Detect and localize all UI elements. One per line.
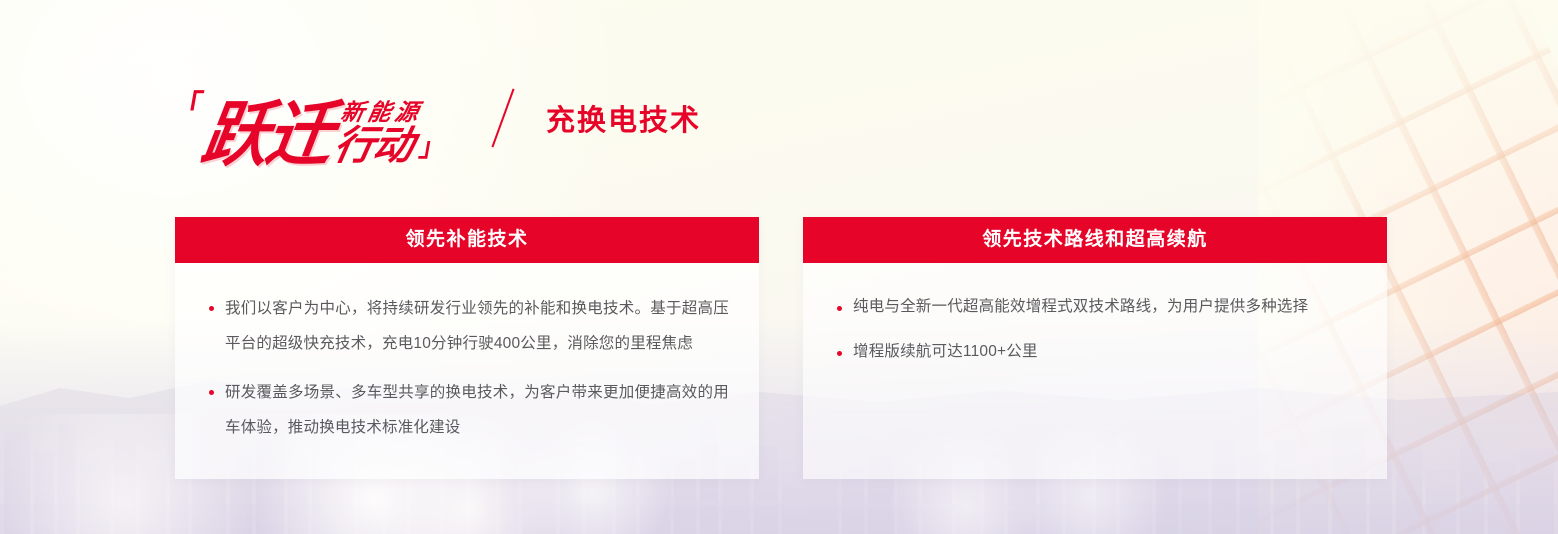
- card-body: 纯电与全新一代超高能效增程式双技术路线，为用户提供多种选择 增程版续航可达110…: [803, 263, 1387, 415]
- page-title: 充换电技术: [546, 97, 701, 139]
- card-leading-recharge: 领先补能技术 我们以客户为中心，将持续研发行业领先的补能和换电技术。基于超高压平…: [175, 217, 759, 479]
- banner-header: 「 跃迁 新能源 行动 」 充换电技术: [172, 70, 701, 166]
- card-body: 我们以客户为中心，将持续研发行业领先的补能和换电技术。基于超高压平台的超级快充技…: [175, 263, 759, 479]
- logo-sub-top-text: 新能源: [339, 101, 424, 124]
- card-leading-tech-route: 领先技术路线和超高续航 纯电与全新一代超高能效增程式双技术路线，为用户提供多种选…: [803, 217, 1387, 479]
- list-item: 我们以客户为中心，将持续研发行业领先的补能和换电技术。基于超高压平台的超级快充技…: [205, 291, 729, 362]
- card-group: 领先补能技术 我们以客户为中心，将持续研发行业领先的补能和换电技术。基于超高压平…: [175, 217, 1387, 479]
- slash-divider-icon: [480, 87, 524, 149]
- logo-main-text: 跃迁: [198, 101, 337, 169]
- list-item: 纯电与全新一代超高能效增程式双技术路线，为用户提供多种选择: [833, 291, 1357, 322]
- logo-bracket-open-icon: 「: [169, 92, 204, 122]
- list-item: 增程版续航可达1100+公里: [833, 336, 1357, 367]
- card-title: 领先补能技术: [175, 217, 759, 263]
- brand-logo: 「 跃迁 新能源 行动 」: [172, 70, 446, 166]
- promo-banner: 「 跃迁 新能源 行动 」 充换电技术 领先补能技术 我们以客户为中心，将持续研…: [0, 0, 1558, 534]
- card-title: 领先技术路线和超高续航: [803, 217, 1387, 263]
- logo-sub-bottom-text: 行动: [331, 126, 420, 166]
- bullet-list: 我们以客户为中心，将持续研发行业领先的补能和换电技术。基于超高压平台的超级快充技…: [205, 291, 729, 445]
- logo-bracket-close-icon: 」: [417, 127, 450, 164]
- bullet-list: 纯电与全新一代超高能效增程式双技术路线，为用户提供多种选择 增程版续航可达110…: [833, 291, 1357, 367]
- list-item: 研发覆盖多场景、多车型共享的换电技术，为客户带来更加便捷高效的用车体验，推动换电…: [205, 375, 729, 446]
- logo-sub-stack: 新能源 行动: [331, 101, 425, 166]
